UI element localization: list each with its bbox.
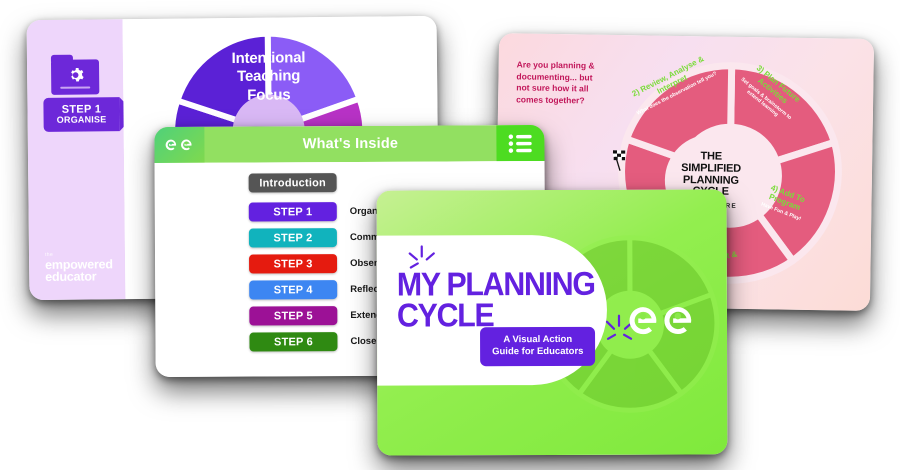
contents-chip[interactable]: STEP 3 <box>249 254 337 273</box>
contents-chip[interactable]: STEP 2 <box>249 228 337 247</box>
slide-my-planning-cycle-cover[interactable]: MY PLANNING CYCLE A Visual Action Guide … <box>377 189 728 455</box>
wheel-title-line2: Teaching <box>191 67 346 87</box>
wheel-title-line1: Intentional <box>191 49 346 69</box>
slide-sidebar: STEP 1 ORGANISE the empowered educator <box>27 19 126 300</box>
whats-inside-title: What's Inside <box>204 135 496 153</box>
wordmark-line2: educator <box>45 271 113 284</box>
ee-logo-icon <box>154 127 204 163</box>
slides-collage: STEP 1 ORGANISE the empowered educator <box>0 0 900 470</box>
cover-ee-logo-icon <box>625 297 697 343</box>
contents-chip[interactable]: Introduction <box>249 173 337 192</box>
cover-subtitle-badge[interactable]: A Visual Action Guide for Educators <box>480 327 595 366</box>
whats-inside-header: What's Inside <box>154 125 544 163</box>
step-flag-line2: ORGANISE <box>57 115 107 125</box>
folder-gear-icon <box>51 54 99 95</box>
step-1-organise-flag[interactable]: STEP 1 ORGANISE <box>43 97 119 132</box>
badge-line2: Guide for Educators <box>492 346 583 359</box>
cover-title: MY PLANNING CYCLE <box>397 268 595 331</box>
empowered-educator-wordmark: the empowered educator <box>45 253 113 284</box>
wordmark-the: the <box>45 253 113 259</box>
contents-chip[interactable]: STEP 5 <box>249 306 337 325</box>
badge-line1: A Visual Action <box>492 334 583 347</box>
contents-chip[interactable]: STEP 4 <box>249 280 337 299</box>
contents-chip[interactable]: STEP 1 <box>249 202 337 221</box>
ask-question-text: Are you planning & documenting... but no… <box>516 59 595 107</box>
wheel-center-title: Intentional Teaching Focus <box>191 49 347 106</box>
checkered-flag-icon <box>607 148 633 174</box>
wheel-title-line3: Focus <box>191 85 346 105</box>
cover-title-line1: MY PLANNING <box>397 268 595 300</box>
bullet-list-icon[interactable] <box>496 125 544 161</box>
contents-chip[interactable]: STEP 6 <box>249 332 337 351</box>
